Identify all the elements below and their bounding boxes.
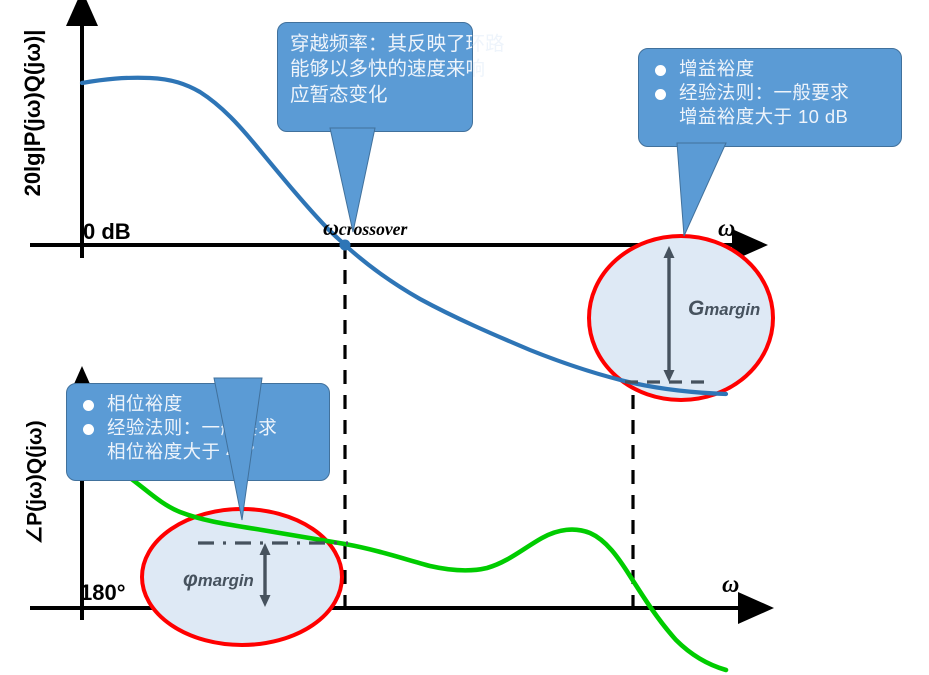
magnitude-axis-label: 20lg|P(jω)Q(jω)|	[20, 18, 46, 208]
callout-bullet-item: 经验法则：一般要求	[645, 81, 893, 105]
callout-line: 穿越频率：其反映了环路	[290, 32, 462, 57]
zero-db-label: 0 dB	[83, 219, 131, 245]
gain-margin-subscript: margin	[704, 300, 760, 319]
phase-margin-label: φmargin	[183, 568, 254, 592]
callout-bullet-item: 增益裕度	[645, 57, 893, 81]
crossover-callout-tail	[277, 128, 397, 238]
gain-margin-symbol: G	[688, 297, 704, 320]
phase-margin-symbol: φ	[183, 568, 198, 591]
callout-continuation: 增益裕度大于 10 dB	[645, 105, 893, 129]
crossover-frequency-callout: 穿越频率：其反映了环路 能够以多快的速度来响 应暂态变化	[277, 22, 473, 132]
gain-margin-callout: 增益裕度 经验法则：一般要求 增益裕度大于 10 dB	[638, 48, 902, 147]
gain-margin-label: Gmargin	[688, 297, 760, 321]
crossover-point-marker	[340, 240, 351, 251]
phase-margin-subscript: margin	[198, 571, 254, 590]
callout-line: 能够以多快的速度来响	[290, 57, 462, 82]
phase-axis-label: ∠P(jω)Q(jω)	[23, 393, 48, 573]
phase-x-axis-label: ω	[722, 572, 739, 599]
callout-line: 应暂态变化	[290, 83, 462, 108]
one-eighty-degrees-label: 180°	[80, 580, 126, 606]
phase-margin-callout-tail	[66, 378, 266, 528]
bode-plot-figure: 20lg|P(jω)Q(jω)| ∠P(jω)Q(jω) 0 dB 180° ω…	[0, 0, 929, 675]
gain-margin-callout-tail	[638, 143, 788, 243]
